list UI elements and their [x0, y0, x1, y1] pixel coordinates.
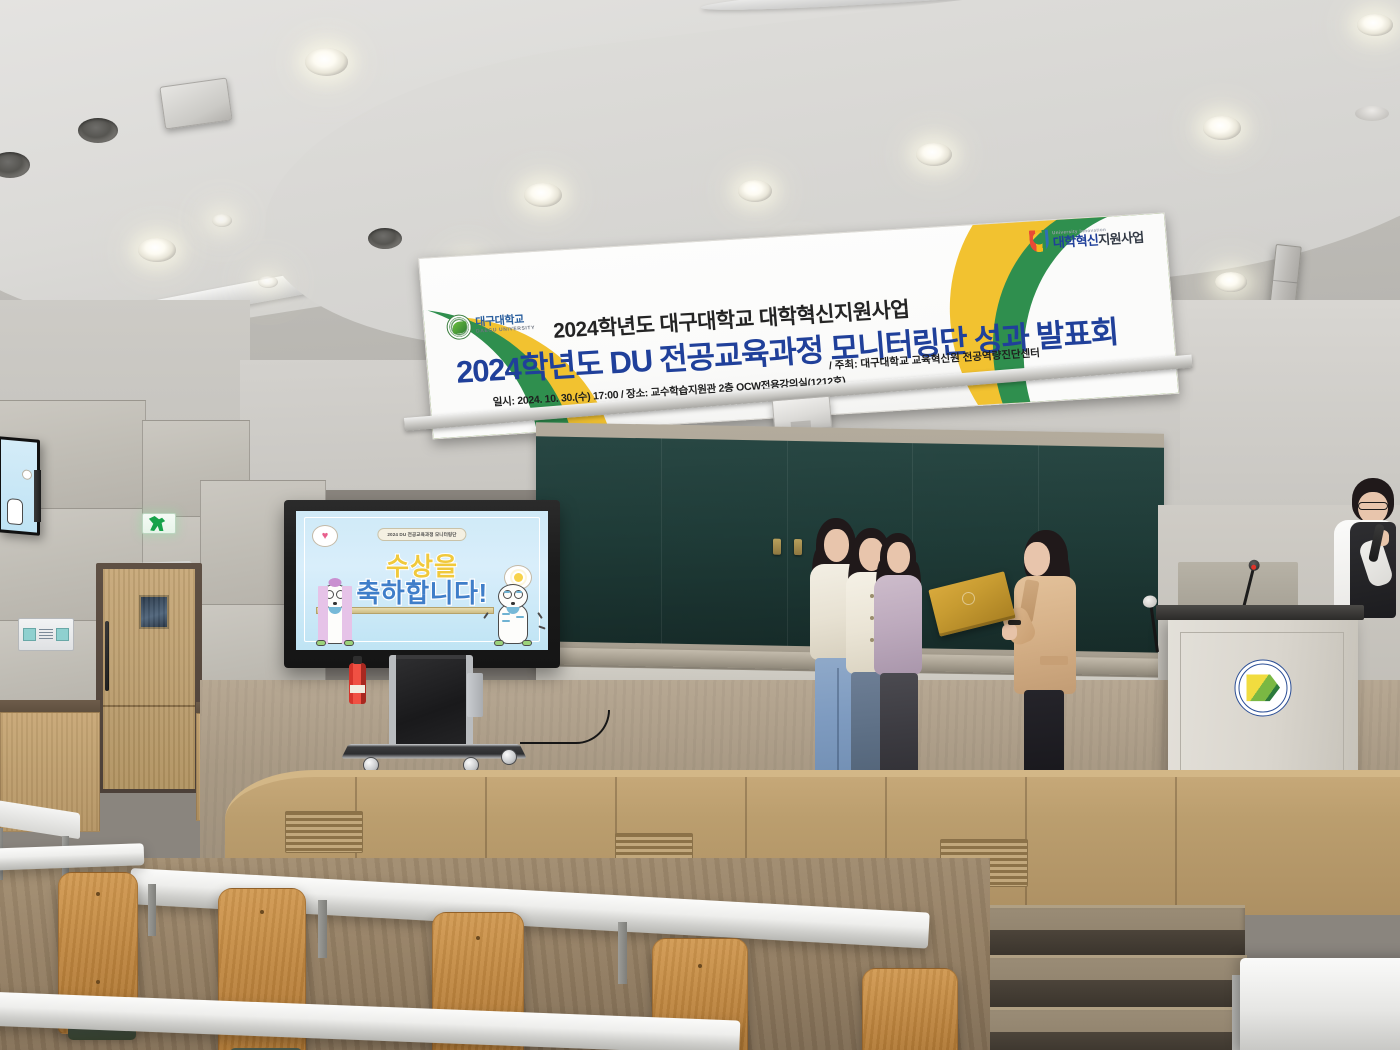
monitor-mount-arm — [34, 470, 41, 522]
podium-university-seal — [1235, 659, 1292, 716]
downlight-on — [212, 214, 232, 227]
running-man-icon — [148, 516, 170, 531]
downlight-on — [1357, 14, 1393, 36]
presentation-slide: 2024 DU 전공교육과정 모니터링단 수상을 축하합니다! — [296, 511, 548, 650]
face — [887, 542, 910, 573]
daegu-university-logo: 대구대학교 DAEGU UNIVERSITY — [446, 310, 536, 340]
smoke-detector-icon — [1355, 106, 1389, 121]
chair-rivet — [260, 910, 264, 914]
door-handle[interactable] — [105, 621, 109, 691]
downlight-on — [916, 143, 952, 166]
exit-door[interactable] — [103, 569, 195, 789]
control-switch-icon[interactable] — [23, 628, 36, 641]
exit-sign — [142, 513, 176, 534]
eyeglasses-icon — [1358, 502, 1388, 510]
downlight-on — [138, 238, 176, 262]
chair-rivet — [96, 892, 100, 896]
cart-side-panel — [467, 673, 483, 717]
cart-caster — [501, 749, 517, 765]
door-vision-window — [139, 595, 169, 629]
presenter-hand — [1002, 624, 1017, 640]
wall-control-panel — [18, 618, 74, 651]
chalkboard-handle[interactable] — [773, 539, 781, 555]
display-monitor: 2024 DU 전공교육과정 모니터링단 수상을 축하합니다! — [284, 500, 560, 668]
chair-rivet — [698, 964, 702, 968]
downlight-on — [258, 276, 278, 288]
face — [1024, 542, 1050, 576]
innovation-u-mark-icon — [1029, 229, 1050, 252]
heart-bubble-icon — [312, 525, 338, 547]
downlight-off — [368, 228, 402, 249]
slide-headline-bottom: 축하합니다! — [356, 573, 487, 610]
wristwatch-icon — [1008, 620, 1021, 625]
podium-top-surface — [1156, 605, 1364, 620]
innovation-logo-korean-secondary: 지원사업 — [1098, 229, 1145, 247]
lecture-chair[interactable] — [862, 968, 958, 1050]
stage-vent-grille — [285, 811, 363, 853]
chair-back — [862, 968, 958, 1050]
mascot-thumbnail-icon — [7, 498, 23, 525]
right-foreground-desk — [1240, 958, 1400, 1050]
control-label-lines — [39, 629, 53, 641]
cart-column — [389, 655, 473, 748]
fuzzy-jacket — [874, 575, 922, 675]
blazer-pocket-flap — [1040, 656, 1068, 665]
downlight-on — [1203, 116, 1241, 140]
desk-leg — [148, 884, 156, 936]
tiger-mascot-right-icon — [490, 576, 536, 644]
chalkboard-handle[interactable] — [794, 539, 802, 555]
chair-rivet — [476, 936, 480, 940]
desk-leg — [618, 922, 627, 984]
chalkboard-pane — [662, 439, 788, 646]
downlight-on — [524, 183, 562, 207]
downlight-on — [738, 180, 772, 202]
innovation-logo-korean-primary: 대학혁신 — [1052, 232, 1099, 250]
tv-cart — [345, 655, 523, 773]
downlight-on — [305, 48, 348, 76]
sun-bubble-icon — [22, 469, 32, 480]
tiger-mascot-left-icon — [312, 576, 358, 644]
daegu-university-emblem-icon — [446, 314, 473, 340]
downlight-off — [78, 118, 118, 143]
door-mid-rail — [103, 705, 195, 707]
desk-leg — [318, 900, 327, 958]
chair-rivet — [96, 980, 100, 984]
downlight-on — [1215, 272, 1247, 292]
stage-panel-seam — [1175, 777, 1177, 915]
slide-badge: 2024 DU 전공교육과정 모니터링단 — [377, 528, 466, 541]
lecture-hall-photo: 대구대학교 DAEGU UNIVERSITY University Innova… — [0, 0, 1400, 1050]
door-frame — [96, 563, 202, 793]
wall-monitor-slide — [1, 439, 37, 532]
control-switch-icon[interactable] — [56, 628, 69, 641]
